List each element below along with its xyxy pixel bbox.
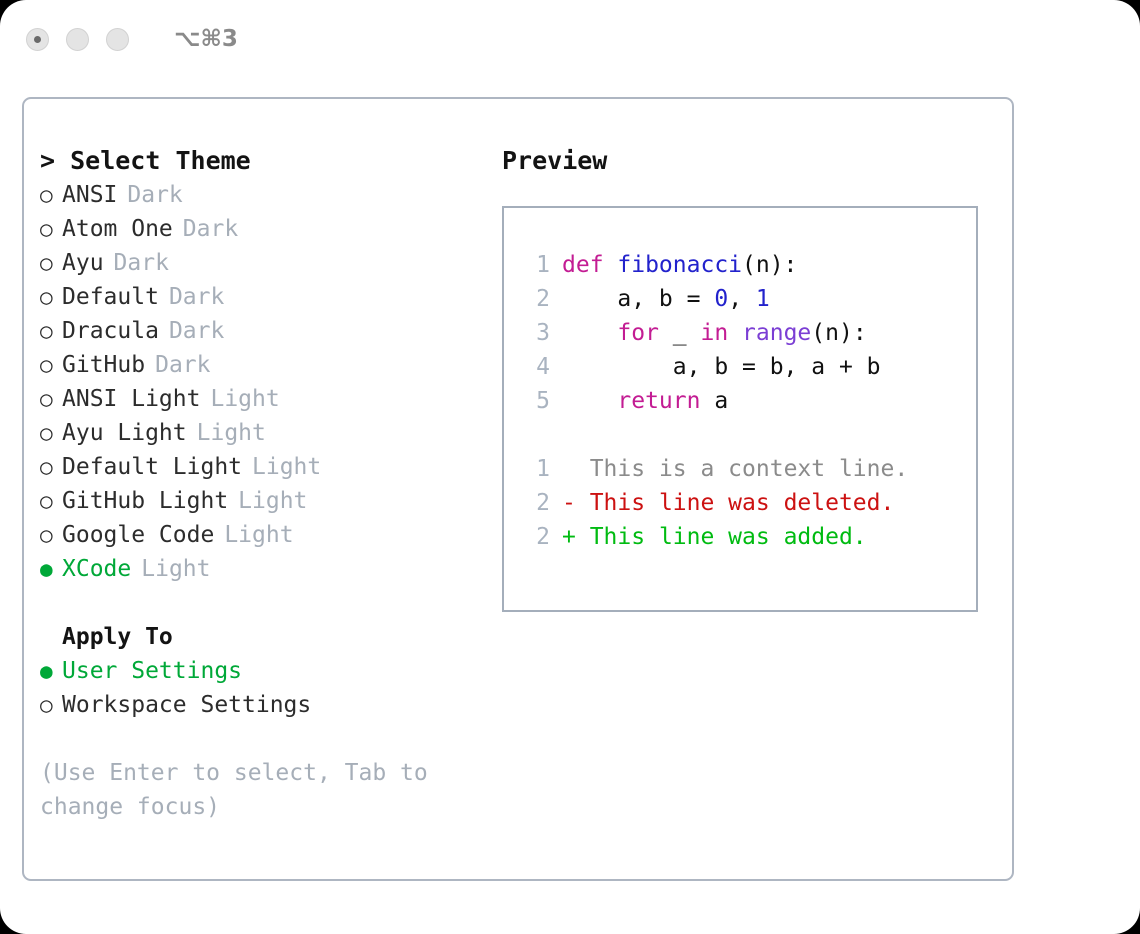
theme-item-label: Ayu (62, 246, 104, 280)
theme-item-label: Dracula (62, 314, 159, 348)
code-line-content: return a (562, 384, 728, 418)
theme-item-github-light[interactable]: ○GitHub LightLight (40, 484, 492, 518)
diff-line-text: This line was added. (576, 520, 867, 554)
preview-heading: Preview (502, 144, 1012, 178)
theme-item-label: GitHub Light (62, 484, 228, 518)
theme-item-label: Atom One (62, 212, 173, 246)
app-window: ⌥⌘3 > Select Theme ○ANSIDark○Atom OneDar… (0, 0, 1140, 934)
diff-line-text: This line was deleted. (576, 486, 895, 520)
theme-item-label: ANSI Light (62, 382, 200, 416)
code-line-number: 1 (520, 248, 550, 282)
radio-empty-icon: ○ (40, 688, 62, 722)
diff-line-ctx: 1 This is a context line. (504, 452, 976, 486)
apply-to-item-label: User Settings (62, 654, 242, 688)
radio-empty-icon: ○ (40, 212, 62, 246)
preview-panel: Preview 1def fibonacci(n):2 a, b = 0, 13… (492, 99, 1012, 879)
theme-item-variant: Dark (169, 280, 224, 314)
radio-empty-icon: ○ (40, 280, 62, 314)
preview-box: 1def fibonacci(n):2 a, b = 0, 13 for _ i… (502, 206, 978, 612)
code-token-pl: (n): (742, 252, 797, 278)
radio-selected-icon: ● (40, 654, 62, 688)
theme-list: ○ANSIDark○Atom OneDark○AyuDark○DefaultDa… (40, 178, 492, 586)
theme-item-variant: Light (141, 552, 210, 586)
diff-marker (562, 452, 576, 486)
theme-item-default-light[interactable]: ○Default LightLight (40, 450, 492, 484)
theme-item-variant: Light (197, 416, 266, 450)
code-line: 2 a, b = 0, 1 (504, 282, 976, 316)
code-token-num: 1 (756, 286, 770, 312)
diff-sample: 1 This is a context line.2- This line wa… (504, 452, 976, 554)
code-token-pl: a (700, 388, 728, 414)
code-token-kw: for (617, 320, 659, 346)
window-controls (26, 28, 129, 51)
select-theme-heading: > Select Theme (40, 144, 492, 178)
theme-item-dracula[interactable]: ○DraculaDark (40, 314, 492, 348)
code-token-kw: in (700, 320, 728, 346)
diff-line-number: 2 (520, 520, 550, 554)
theme-item-variant: Dark (169, 314, 224, 348)
theme-item-label: GitHub (62, 348, 145, 382)
window-button-3[interactable] (106, 28, 129, 51)
radio-empty-icon: ○ (40, 314, 62, 348)
theme-item-atom-one[interactable]: ○Atom OneDark (40, 212, 492, 246)
keyboard-hint: (Use Enter to select, Tab to change focu… (40, 756, 450, 824)
code-token-fn: fibonacci (617, 252, 742, 278)
code-line: 5 return a (504, 384, 976, 418)
code-token-num: 0 (714, 286, 728, 312)
apply-to-item-label: Workspace Settings (62, 688, 311, 722)
title-bar: ⌥⌘3 (0, 0, 1140, 78)
theme-item-ayu-light[interactable]: ○Ayu LightLight (40, 416, 492, 450)
theme-item-label: Google Code (62, 518, 214, 552)
record-dot-icon (34, 36, 41, 43)
code-line-number: 2 (520, 282, 550, 316)
record-button[interactable] (26, 28, 49, 51)
diff-line-number: 1 (520, 452, 550, 486)
theme-item-variant: Light (224, 518, 293, 552)
code-token-pl: (n): (811, 320, 866, 346)
code-token-pl (562, 388, 617, 414)
keyboard-shortcut-label: ⌥⌘3 (174, 26, 238, 52)
diff-line-add: 2+ This line was added. (504, 520, 976, 554)
radio-empty-icon: ○ (40, 450, 62, 484)
code-line: 1def fibonacci(n): (504, 248, 976, 282)
theme-item-variant: Light (252, 450, 321, 484)
code-line-number: 4 (520, 350, 550, 384)
theme-item-variant: Light (238, 484, 307, 518)
radio-empty-icon: ○ (40, 178, 62, 212)
code-line-content: def fibonacci(n): (562, 248, 797, 282)
diff-line-number: 2 (520, 486, 550, 520)
theme-selection-panel: > Select Theme ○ANSIDark○Atom OneDark○Ay… (24, 99, 492, 879)
radio-empty-icon: ○ (40, 484, 62, 518)
theme-item-variant: Light (210, 382, 279, 416)
diff-line-del: 2- This line was deleted. (504, 486, 976, 520)
list-gap (40, 586, 492, 620)
window-button-2[interactable] (66, 28, 89, 51)
theme-item-variant: Dark (127, 178, 182, 212)
code-token-bi: range (742, 320, 811, 346)
theme-item-label: Ayu Light (62, 416, 187, 450)
code-token-pl (562, 320, 617, 346)
code-line-content: a, b = 0, 1 (562, 282, 770, 316)
diff-marker: - (562, 486, 576, 520)
diff-line-text: This is a context line. (576, 452, 908, 486)
code-token-pl: , (728, 286, 756, 312)
code-sample: 1def fibonacci(n):2 a, b = 0, 13 for _ i… (504, 248, 976, 418)
code-diff-gap (504, 418, 976, 452)
apply-to-item-workspace-settings[interactable]: ○Workspace Settings (40, 688, 492, 722)
radio-empty-icon: ○ (40, 246, 62, 280)
code-token-pl: a, b = (562, 286, 714, 312)
theme-item-label: ANSI (62, 178, 117, 212)
diff-marker: + (562, 520, 576, 554)
radio-empty-icon: ○ (40, 518, 62, 552)
radio-empty-icon: ○ (40, 348, 62, 382)
theme-item-variant: Dark (114, 246, 169, 280)
theme-item-xcode[interactable]: ●XCodeLight (40, 552, 492, 586)
code-line-content: a, b = b, a + b (562, 350, 881, 384)
code-token-pl: _ (659, 320, 701, 346)
code-line-content: for _ in range(n): (562, 316, 867, 350)
theme-item-google-code[interactable]: ○Google CodeLight (40, 518, 492, 552)
theme-item-ansi[interactable]: ○ANSIDark (40, 178, 492, 212)
theme-item-variant: Dark (183, 212, 238, 246)
theme-item-default[interactable]: ○DefaultDark (40, 280, 492, 314)
radio-empty-icon: ○ (40, 416, 62, 450)
code-token-kw: return (617, 388, 700, 414)
dialog-frame: > Select Theme ○ANSIDark○Atom OneDark○Ay… (22, 97, 1014, 881)
radio-empty-icon: ○ (40, 382, 62, 416)
theme-item-variant: Dark (155, 348, 210, 382)
code-token-kw: def (562, 252, 617, 278)
apply-to-list: ●User Settings○Workspace Settings (40, 654, 492, 722)
apply-to-heading: Apply To (40, 620, 492, 654)
code-token-pl: a, b = b, a + b (562, 354, 881, 380)
theme-item-github[interactable]: ○GitHubDark (40, 348, 492, 382)
theme-item-label: Default Light (62, 450, 242, 484)
hint-gap (40, 722, 492, 756)
code-line: 4 a, b = b, a + b (504, 350, 976, 384)
code-line: 3 for _ in range(n): (504, 316, 976, 350)
apply-to-item-user-settings[interactable]: ●User Settings (40, 654, 492, 688)
theme-item-label: XCode (62, 552, 131, 586)
radio-selected-icon: ● (40, 552, 62, 586)
theme-item-ayu[interactable]: ○AyuDark (40, 246, 492, 280)
code-line-number: 3 (520, 316, 550, 350)
code-token-pl (728, 320, 742, 346)
theme-item-label: Default (62, 280, 159, 314)
theme-item-ansi-light[interactable]: ○ANSI LightLight (40, 382, 492, 416)
code-line-number: 5 (520, 384, 550, 418)
